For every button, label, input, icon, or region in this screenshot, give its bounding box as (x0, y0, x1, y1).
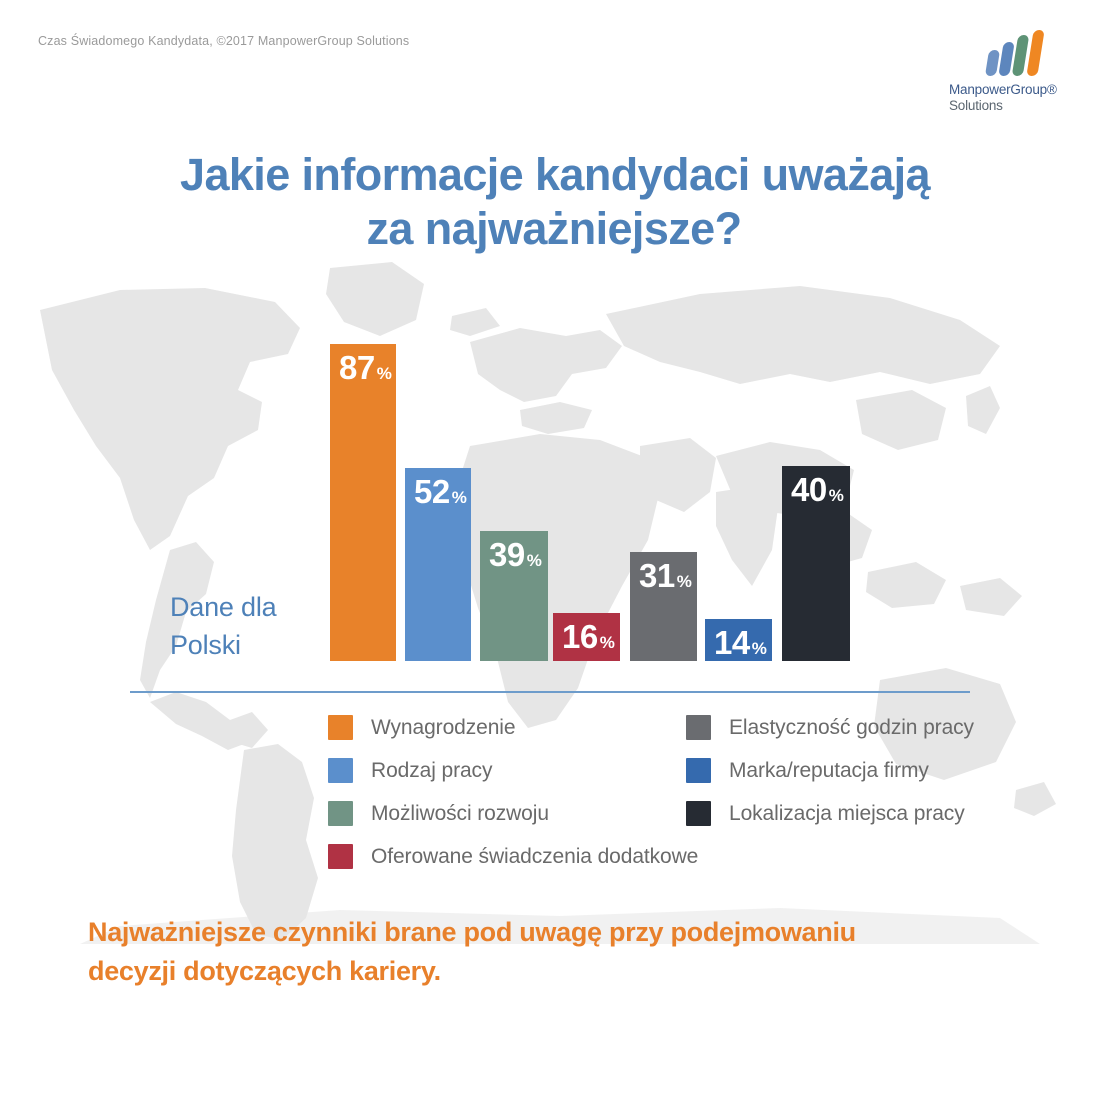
logo-wordmark-primary: ManpowerGroup® (949, 82, 1069, 97)
chart-bar-value-label: 52% (414, 475, 466, 514)
footer-caption: Najważniejsze czynniki brane pod uwagę p… (88, 913, 1028, 991)
legend-item-label: Oferowane świadczenia dodatkowe (371, 845, 698, 869)
chart-bar: 39% (480, 531, 548, 661)
legend-item: Lokalizacja miejsca pracy (686, 792, 974, 835)
page-title-line-2: za najważniejsze? (0, 202, 1106, 256)
chart-bar-value-label: 31% (639, 559, 691, 598)
chart-bar-value-label: 87% (339, 351, 391, 390)
legend-item-label: Lokalizacja miejsca pracy (729, 802, 965, 826)
legend-item-label: Rodzaj pracy (371, 759, 492, 783)
chart-bar-value-label: 14% (714, 626, 766, 665)
manpowergroup-solutions-logo: ManpowerGroup® Solutions (949, 30, 1069, 116)
chart-bar-value-label: 16% (562, 620, 614, 659)
legend-item: Możliwości rozwoju (328, 792, 698, 835)
legend-color-swatch (328, 758, 353, 783)
chart-side-label: Dane dla Polski (170, 588, 276, 664)
legend-color-swatch (328, 844, 353, 869)
legend-item-label: Możliwości rozwoju (371, 802, 549, 826)
logo-bar-1 (985, 50, 1000, 76)
chart-bar: 40% (782, 466, 850, 661)
chart-side-label-line-2: Polski (170, 626, 276, 664)
percent-sign-icon: % (752, 639, 767, 658)
chart-bar-value-number: 52 (414, 473, 450, 510)
footer-caption-line-2: decyzji dotyczących kariery. (88, 952, 1028, 991)
legend-item: Marka/reputacja firmy (686, 749, 974, 792)
chart-bar-value-number: 14 (714, 624, 750, 661)
percent-sign-icon: % (677, 572, 692, 591)
chart-bar-value-label: 39% (489, 538, 541, 577)
legend-color-swatch (328, 801, 353, 826)
chart-bar-value-label: 40% (791, 473, 843, 512)
chart-bar-value-number: 40 (791, 471, 827, 508)
chart-bar: 87% (330, 344, 396, 661)
legend-color-swatch (328, 715, 353, 740)
legend-item: Oferowane świadczenia dodatkowe (328, 835, 698, 878)
footer-caption-line-1: Najważniejsze czynniki brane pod uwagę p… (88, 913, 1028, 952)
legend-item: Elastyczność godzin pracy (686, 706, 974, 749)
legend-column-right: Elastyczność godzin pracyMarka/reputacja… (686, 706, 974, 835)
legend-color-swatch (686, 801, 711, 826)
chart-baseline (130, 691, 970, 693)
chart-side-label-line-1: Dane dla (170, 588, 276, 626)
legend-item-label: Wynagrodzenie (371, 716, 515, 740)
logo-bar-4 (1026, 30, 1044, 76)
legend-item-label: Marka/reputacja firmy (729, 759, 929, 783)
legend-color-swatch (686, 758, 711, 783)
percent-sign-icon: % (452, 488, 467, 507)
chart-bar: 14% (705, 619, 772, 661)
percent-sign-icon: % (600, 633, 615, 652)
chart-bar-value-number: 31 (639, 557, 675, 594)
page-title: Jakie informacje kandydaci uważają za na… (0, 148, 1106, 256)
legend-color-swatch (686, 715, 711, 740)
chart-bar: 52% (405, 468, 471, 661)
chart-bar: 16% (553, 613, 620, 661)
manpowergroup-bars-logo-icon (987, 30, 1049, 76)
chart-bar-value-number: 87 (339, 349, 375, 386)
legend-item: Rodzaj pracy (328, 749, 698, 792)
logo-wordmark-secondary: Solutions (949, 98, 1069, 113)
chart-bar: 31% (630, 552, 697, 661)
percent-sign-icon: % (377, 364, 392, 383)
legend-item-label: Elastyczność godzin pracy (729, 716, 974, 740)
percent-sign-icon: % (527, 551, 542, 570)
legend-column-left: WynagrodzenieRodzaj pracyMożliwości rozw… (328, 706, 698, 878)
percent-sign-icon: % (829, 486, 844, 505)
legend-item: Wynagrodzenie (328, 706, 698, 749)
copyright-text: Czas Świadomego Kandydata, ©2017 Manpowe… (38, 34, 409, 48)
chart-bar-value-number: 16 (562, 618, 598, 655)
infographic-canvas: Czas Świadomego Kandydata, ©2017 Manpowe… (0, 0, 1106, 1106)
chart-bar-value-number: 39 (489, 536, 525, 573)
page-title-line-1: Jakie informacje kandydaci uważają (0, 148, 1106, 202)
